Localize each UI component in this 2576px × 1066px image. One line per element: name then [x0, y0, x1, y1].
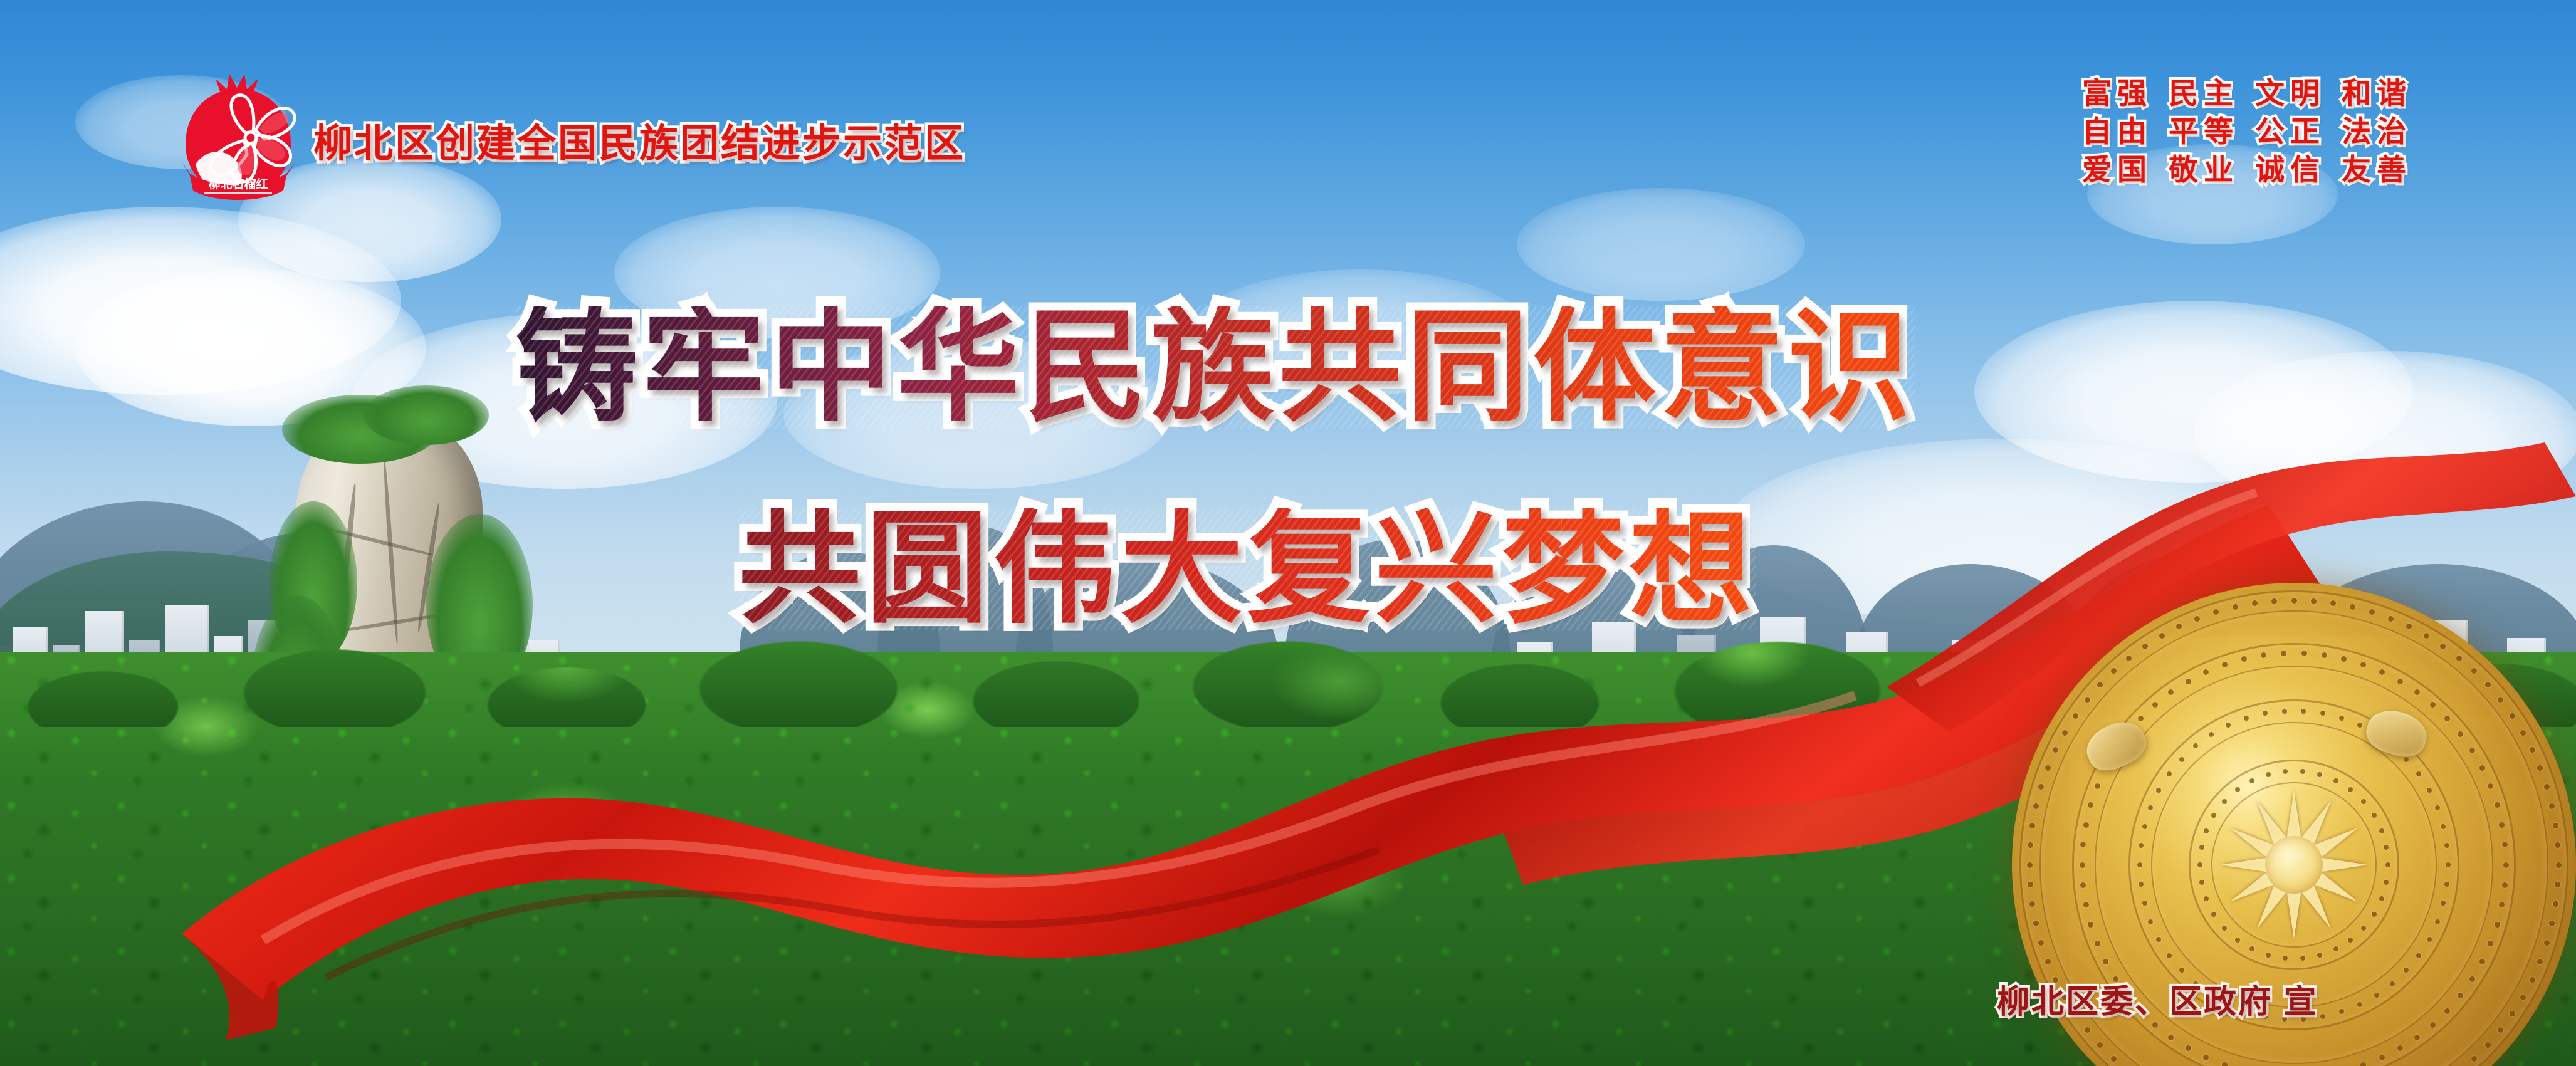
drum-dot [2530, 977, 2535, 983]
drum-dot [2397, 679, 2403, 684]
drum-dot [2357, 723, 2362, 728]
drum-dot [2458, 731, 2463, 737]
core-value: 平等 [2169, 115, 2239, 148]
drum-dot [2469, 976, 2475, 982]
headline-line-1: 铸牢中华民族共同体意识 铸牢中华民族共同体意识 [515, 306, 1915, 429]
drum-dot [2469, 748, 2475, 753]
drum-dot [2360, 662, 2366, 667]
drum-dot [2444, 882, 2449, 887]
drum-dot [2080, 862, 2085, 868]
drum-dot [2397, 1045, 2403, 1051]
drum-dot [2266, 772, 2271, 777]
drum-dot [2053, 747, 2058, 753]
drum-sun-core [2265, 836, 2323, 894]
drum-dot [2222, 662, 2228, 667]
drum-dot [2186, 679, 2191, 684]
drum-dot [2148, 919, 2153, 924]
page-title: 柳北区创建全国民族团结进步示范区 [313, 112, 965, 168]
drum-dot [2416, 953, 2421, 958]
drum-dot [2097, 682, 2103, 687]
drum-dot [2414, 1035, 2420, 1040]
drum-dot [2369, 609, 2375, 615]
drum-dot [2226, 723, 2231, 728]
drum-dot [2176, 624, 2182, 629]
drum-dot [2510, 713, 2515, 719]
drum-dot [2204, 828, 2209, 833]
drum-dot [2499, 822, 2505, 828]
drum-dot [2244, 716, 2249, 721]
drum-dot [2322, 652, 2327, 658]
drum-dot [2495, 802, 2500, 808]
drum-dot [2379, 1055, 2385, 1060]
drum-dot [2320, 711, 2325, 716]
drum-dot [2139, 882, 2144, 887]
core-value: 爱国 [2082, 153, 2152, 186]
drum-dot [2103, 959, 2108, 964]
drum-dot [2261, 652, 2266, 658]
headline-line-1-fill: 铸牢中华民族共同体意识 [515, 306, 1915, 429]
drum-dot [2083, 822, 2089, 828]
core-value: 公正 [2255, 115, 2325, 148]
drum-dot [2045, 959, 2051, 964]
drum-dot [2213, 609, 2219, 615]
drum-dot [2199, 845, 2204, 850]
drum-dot [2222, 1062, 2228, 1066]
drum-dot [2080, 842, 2086, 847]
drum-dot [2045, 765, 2051, 771]
drum-dot [2168, 689, 2174, 695]
drum-dot [2028, 842, 2033, 848]
core-value: 和谐 [2342, 76, 2412, 110]
drum-dot [2430, 1022, 2436, 1028]
drum-dot [2301, 709, 2306, 714]
drum-dot [2424, 633, 2429, 639]
drum-dot [2479, 765, 2485, 771]
drum-dot [2142, 644, 2148, 649]
drum-dot [2193, 743, 2198, 748]
drum-dot [2320, 1014, 2325, 1019]
drum-dot [2126, 656, 2132, 661]
logo-banner-text: 柳北石榴红 [208, 177, 268, 191]
drum-dot [2111, 668, 2117, 674]
drum-dot [2311, 598, 2317, 604]
drum-dot [2379, 896, 2384, 901]
drum-dot [2485, 682, 2491, 687]
drum-dot [2097, 1042, 2103, 1048]
headline-line-2-fill: 共圆伟大复兴梦想 [738, 508, 1756, 630]
drum-dot [2033, 803, 2039, 809]
drum-dot [2138, 716, 2144, 721]
drum-dot [2038, 940, 2044, 946]
drum-dot [2252, 600, 2258, 606]
core-values-line-3: 爱国敬业诚信友善 [2082, 150, 2412, 189]
drum-dot [2374, 993, 2379, 998]
drum-dot [2142, 901, 2147, 906]
liubei-pomegranate-logo: 柳北石榴红 [177, 70, 300, 208]
drum-dot [2271, 598, 2277, 604]
drum-dot [2384, 880, 2389, 885]
drum-dot [2456, 656, 2462, 661]
drum-dot [2197, 862, 2202, 867]
drum-dot [2148, 805, 2153, 810]
drum-dot [2233, 604, 2238, 610]
drum-dot [2502, 882, 2508, 888]
drum-dot [2088, 802, 2093, 808]
drum-dot [2062, 730, 2068, 736]
drum-dot [2379, 828, 2384, 833]
drum-dot [2435, 919, 2440, 924]
drum-dot [2544, 784, 2550, 790]
drum-dot [2085, 1027, 2090, 1033]
drum-dot [2549, 803, 2555, 809]
core-value: 诚信 [2255, 153, 2325, 186]
drum-dot [2544, 940, 2550, 946]
drum-dot [2194, 616, 2200, 622]
drum-dot [2027, 862, 2033, 868]
drum-dot [2209, 732, 2214, 737]
drum-dot [2430, 702, 2436, 708]
drum-dot [2471, 1056, 2477, 1062]
drum-dot [2520, 995, 2526, 1000]
drum-dot [2073, 713, 2078, 719]
core-value: 富强 [2082, 76, 2152, 110]
drum-dot [2179, 968, 2184, 973]
drum-dot [2263, 711, 2268, 716]
drum-dot [2291, 598, 2297, 604]
drum-dot [2498, 697, 2503, 703]
drum-dot [2159, 633, 2165, 639]
drum-dot [2033, 921, 2039, 926]
drum-dot [2385, 862, 2390, 867]
attribution-text: 柳北区委、区政府 宣 [1997, 975, 2318, 1022]
drum-dot [2406, 624, 2412, 629]
drum-dot [2029, 901, 2035, 907]
core-value: 敬业 [2169, 153, 2239, 186]
drum-dot [2281, 651, 2286, 656]
drum-dot [2088, 922, 2093, 928]
drum-dot [2199, 880, 2204, 885]
drum-dot [2249, 778, 2254, 783]
drum-dot [2520, 730, 2526, 736]
drum-dot [2139, 843, 2144, 848]
headline-line-2: 共圆伟大复兴梦想 共圆伟大复兴梦想 [738, 508, 1756, 630]
poster-banner: 柳北石榴红 柳北区创建全国民族团结进步示范区 富强民主文明和谐 自由平等公正法治… [0, 0, 2576, 1066]
drum-dot [2427, 937, 2432, 942]
drum-dot [2137, 862, 2142, 867]
core-values-line-1: 富强民主文明和谐 [2082, 74, 2412, 112]
drum-dot [2330, 600, 2336, 606]
drum-dot [2152, 1022, 2158, 1028]
drum-dot [2414, 689, 2420, 695]
drum-dot [2440, 644, 2446, 649]
drum-dot [2388, 616, 2394, 622]
drum-dot [2111, 1056, 2117, 1062]
drum-dot [2300, 769, 2305, 774]
drum-dot [2283, 769, 2288, 774]
core-value: 民主 [2169, 76, 2239, 110]
drum-dot [2038, 784, 2044, 790]
drum-dot [2156, 937, 2161, 942]
drum-dot [2485, 1042, 2491, 1048]
drum-dot [2095, 783, 2100, 789]
drum-dot [2446, 862, 2451, 867]
drum-dot [2444, 1008, 2450, 1014]
drum-dot [2080, 882, 2086, 888]
drum-dot [2553, 823, 2558, 828]
drum-dot [2379, 669, 2385, 675]
drum-dot [2083, 902, 2089, 907]
core-values-line-2: 自由平等公正法治 [2082, 112, 2412, 150]
core-socialist-values: 富强民主文明和谐 自由平等公正法治 爱国敬业诚信友善 [2082, 74, 2412, 189]
core-value: 文明 [2255, 76, 2325, 110]
drum-dot [2341, 656, 2347, 662]
drum-dot [2333, 778, 2338, 783]
drum-dot [2167, 953, 2172, 958]
drum-dot [2085, 697, 2090, 703]
drum-dot [2152, 702, 2158, 708]
drum-dot [2390, 981, 2395, 986]
drum-dot [2556, 862, 2562, 868]
drum-dot [2282, 709, 2287, 714]
drum-dot [2503, 862, 2509, 868]
drum-dot [2029, 823, 2035, 828]
drum-dot [2350, 604, 2355, 610]
core-value: 法治 [2342, 115, 2412, 148]
drum-dot [2301, 651, 2307, 656]
drum-dot [2203, 1055, 2209, 1060]
drum-dot [2471, 668, 2477, 674]
drum-dot [2339, 1009, 2344, 1014]
drum-dot [2241, 656, 2247, 662]
drum-dot [2360, 1062, 2366, 1066]
drum-dot [2167, 771, 2172, 776]
drum-dot [2156, 788, 2161, 793]
drum-dot [2495, 922, 2500, 928]
drum-dot [2028, 882, 2033, 887]
drum-dot [2095, 941, 2100, 946]
drum-dot [2203, 669, 2209, 675]
drum-dot [2142, 824, 2147, 829]
drum-dot [2339, 716, 2344, 721]
core-value: 自由 [2082, 115, 2152, 148]
drum-dot [2179, 757, 2184, 762]
drum-dot [2317, 772, 2322, 777]
drum-dot [2204, 896, 2209, 901]
drum-dot [2444, 716, 2450, 721]
drum-dot [2357, 1002, 2362, 1007]
drum-dot [2537, 959, 2543, 964]
drum-dot [2404, 757, 2409, 762]
core-value: 友善 [2342, 153, 2412, 186]
drum-dot [2186, 1045, 2191, 1051]
